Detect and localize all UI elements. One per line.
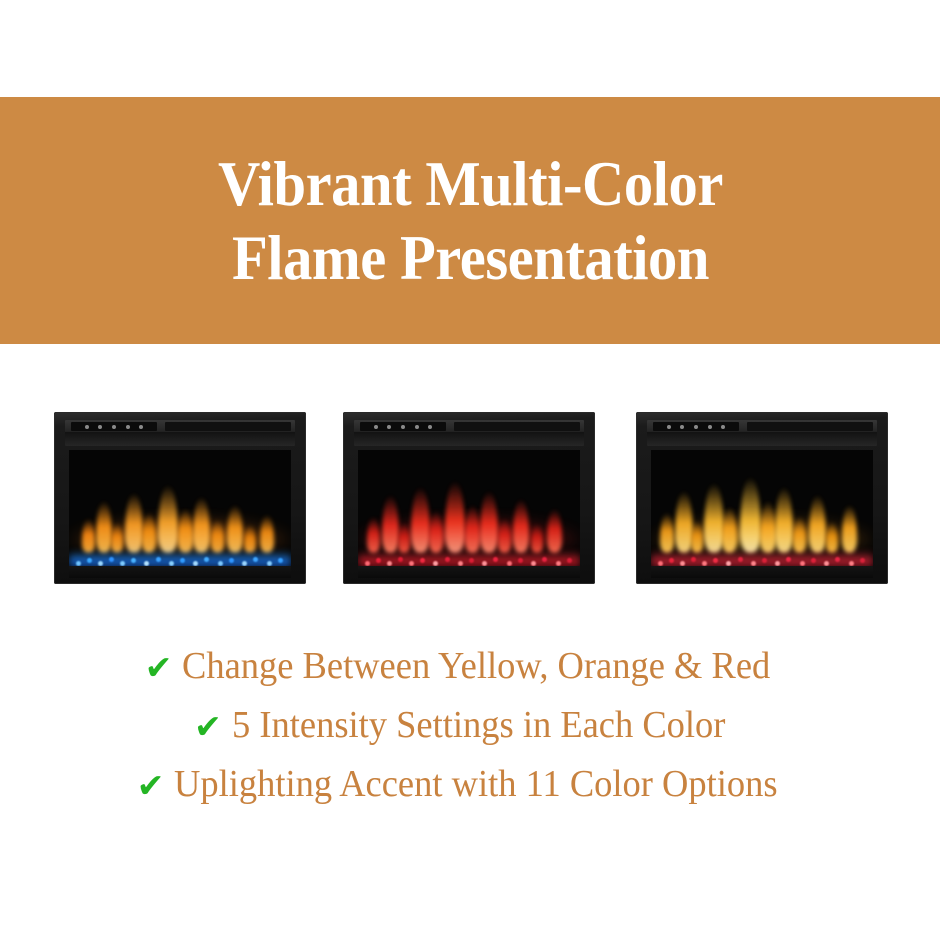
power-button-icon[interactable] [374, 425, 378, 429]
feature-item-intensity-settings: ✔ 5 Intensity Settings in Each Color [0, 699, 940, 751]
product-image-row [0, 406, 940, 586]
color-button-icon[interactable] [708, 425, 712, 429]
flame-button-icon[interactable] [387, 425, 391, 429]
flame-field [358, 471, 580, 553]
flame-button-icon[interactable] [680, 425, 684, 429]
heat-button-icon[interactable] [694, 425, 698, 429]
check-mark-icon: ✔ [145, 651, 173, 684]
header-banner: Vibrant Multi-Color Flame Presentation [0, 97, 940, 344]
timer-button-icon[interactable] [428, 425, 432, 429]
banner-title-line-1: Vibrant Multi-Color [218, 147, 723, 221]
feature-label: 5 Intensity Settings in Each Color [232, 699, 725, 751]
fireplace-vent-slot [454, 422, 580, 431]
fireplace-bottom-trim [358, 566, 580, 578]
color-button-icon[interactable] [126, 425, 130, 429]
feature-item-uplighting: ✔ Uplighting Accent with 11 Color Option… [0, 758, 940, 810]
check-mark-icon: ✔ [194, 710, 222, 743]
fireplace-firebox-cavity [651, 450, 873, 566]
fireplace-control-panel[interactable] [360, 422, 446, 431]
flame-field [651, 471, 873, 553]
fireplace-vent-slot [165, 422, 291, 431]
color-button-icon[interactable] [415, 425, 419, 429]
power-button-icon[interactable] [85, 425, 89, 429]
heat-button-icon[interactable] [112, 425, 116, 429]
ember-crystal-bed-blue [69, 551, 291, 566]
product-feature-graphic: Vibrant Multi-Color Flame Presentation [0, 0, 940, 940]
heat-button-icon[interactable] [401, 425, 405, 429]
product-image-fireplace-blue-uplight [54, 412, 306, 584]
feature-label: Uplighting Accent with 11 Color Options [174, 758, 778, 810]
fireplace-control-panel[interactable] [71, 422, 157, 431]
flame-button-icon[interactable] [98, 425, 102, 429]
feature-item-flame-colors: ✔ Change Between Yellow, Orange & Red [0, 640, 940, 692]
fireplace-top-bezel [354, 420, 584, 446]
fireplace-bottom-trim [69, 566, 291, 578]
feature-label: Change Between Yellow, Orange & Red [182, 640, 770, 692]
fireplace-top-bezel [65, 420, 295, 446]
ember-crystal-bed-red [651, 551, 873, 566]
flame-field [69, 471, 291, 553]
timer-button-icon[interactable] [139, 425, 143, 429]
product-image-fireplace-yellow-flame [636, 412, 888, 584]
banner-title-line-2: Flame Presentation [231, 221, 708, 295]
fireplace-bottom-trim [651, 566, 873, 578]
fireplace-top-bezel [647, 420, 877, 446]
fireplace-firebox-cavity [358, 450, 580, 566]
product-image-fireplace-red-flame [343, 412, 595, 584]
fireplace-control-panel[interactable] [653, 422, 739, 431]
fireplace-firebox-cavity [69, 450, 291, 566]
timer-button-icon[interactable] [721, 425, 725, 429]
ember-crystal-bed-red [358, 551, 580, 566]
check-mark-icon: ✔ [137, 769, 165, 802]
feature-list: ✔ Change Between Yellow, Orange & Red ✔ … [0, 640, 940, 817]
power-button-icon[interactable] [667, 425, 671, 429]
fireplace-vent-slot [747, 422, 873, 431]
